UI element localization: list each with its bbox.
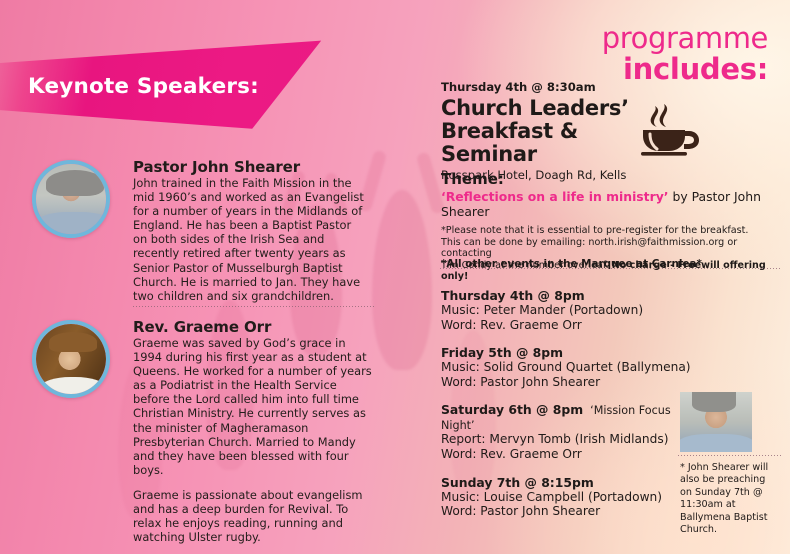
event-detail: Music: Peter Mander (Portadown) <box>441 303 691 318</box>
speaker-bio-paragraph: John trained in the Faith Mission in the… <box>133 176 365 303</box>
speaker-bio: Graeme was saved by God’s grace in 1994 … <box>133 336 373 544</box>
page-title: Keynote Speakers: <box>28 74 259 99</box>
theme-line: ‘Reflections on a life in ministry’ by P… <box>441 189 771 219</box>
poster-page: Keynote Speakers: Pastor John Shearer Jo… <box>0 0 790 554</box>
event-heading-text: Saturday 6th @ 8pm <box>441 402 583 417</box>
event-detail: Word: Rev. Graeme Orr <box>441 318 691 333</box>
event-heading: Thursday 4th @ 8pm <box>441 288 691 303</box>
avatar-detail <box>46 170 104 196</box>
theme-label: Theme: <box>441 170 771 188</box>
event-heading: Sunday 7th @ 8:15pm <box>441 475 691 490</box>
footnote-text: * John Shearer will also be preaching on… <box>680 462 780 536</box>
event-list: Thursday 4th @ 8pm Music: Peter Mander (… <box>441 288 691 532</box>
crowd-silhouette <box>372 190 432 370</box>
divider-dotted <box>440 268 780 269</box>
divider-dotted <box>133 306 375 307</box>
speaker-block-graeme-orr: Rev. Graeme Orr Graeme was saved by God’… <box>133 318 373 544</box>
theme-quote: ‘Reflections on a life in ministry’ <box>441 189 669 204</box>
avatar-detail <box>692 392 736 412</box>
avatar-detail <box>42 377 104 397</box>
event-detail: Word: Pastor John Shearer <box>441 504 691 519</box>
avatar-rev-graeme-orr <box>32 320 110 398</box>
avatar-detail <box>49 332 97 352</box>
avatar-detail <box>680 434 752 452</box>
speaker-name: Pastor John Shearer <box>133 158 365 176</box>
avatar-pastor-john-shearer <box>32 160 110 238</box>
event-detail: Music: Louise Campbell (Portadown) <box>441 490 691 505</box>
avatar-john-shearer-footnote <box>680 392 752 452</box>
event-heading: Friday 5th @ 8pm <box>441 345 691 360</box>
theme-note: *Please note that it is essential to pre… <box>441 225 771 283</box>
theme-note-line: *Please note that it is essential to pre… <box>441 225 771 237</box>
list-item: Friday 5th @ 8pm Music: Solid Ground Qua… <box>441 345 691 389</box>
event-detail: Word: Rev. Graeme Orr <box>441 447 691 462</box>
event-heading-text: Friday 5th @ 8pm <box>441 345 563 360</box>
speaker-bio: John trained in the Faith Mission in the… <box>133 176 365 303</box>
event-detail: Music: Solid Ground Quartet (Ballymena) <box>441 360 691 375</box>
coffee-cup-icon <box>637 96 703 158</box>
list-item: Sunday 7th @ 8:15pm Music: Louise Campbe… <box>441 475 691 519</box>
divider-dotted <box>678 455 782 456</box>
avatar-detail <box>38 212 110 236</box>
speaker-bio-paragraph: Graeme was saved by God’s grace in 1994 … <box>133 336 373 477</box>
event-detail: Word: Pastor John Shearer <box>441 375 691 390</box>
list-item: Saturday 6th @ 8pm‘Mission Focus Night’ … <box>441 402 691 461</box>
speaker-name: Rev. Graeme Orr <box>133 318 373 336</box>
programme-heading-line1: programme <box>602 24 768 53</box>
list-item: Thursday 4th @ 8pm Music: Peter Mander (… <box>441 288 691 332</box>
event-heading: Saturday 6th @ 8pm‘Mission Focus Night’ <box>441 402 691 432</box>
event-heading-text: Sunday 7th @ 8:15pm <box>441 475 594 490</box>
theme-note-line: This can be done by emailing: north.iris… <box>441 237 771 260</box>
programme-heading: programme includes: <box>602 24 768 84</box>
speaker-block-john-shearer: Pastor John Shearer John trained in the … <box>133 158 365 303</box>
featured-event-date: Thursday 4th @ 8:30am <box>441 80 671 94</box>
event-heading-text: Thursday 4th @ 8pm <box>441 288 585 303</box>
event-detail: Report: Mervyn Tomb (Irish Midlands) <box>441 432 691 447</box>
speaker-bio-paragraph: Graeme is passionate about evangelism an… <box>133 488 373 544</box>
